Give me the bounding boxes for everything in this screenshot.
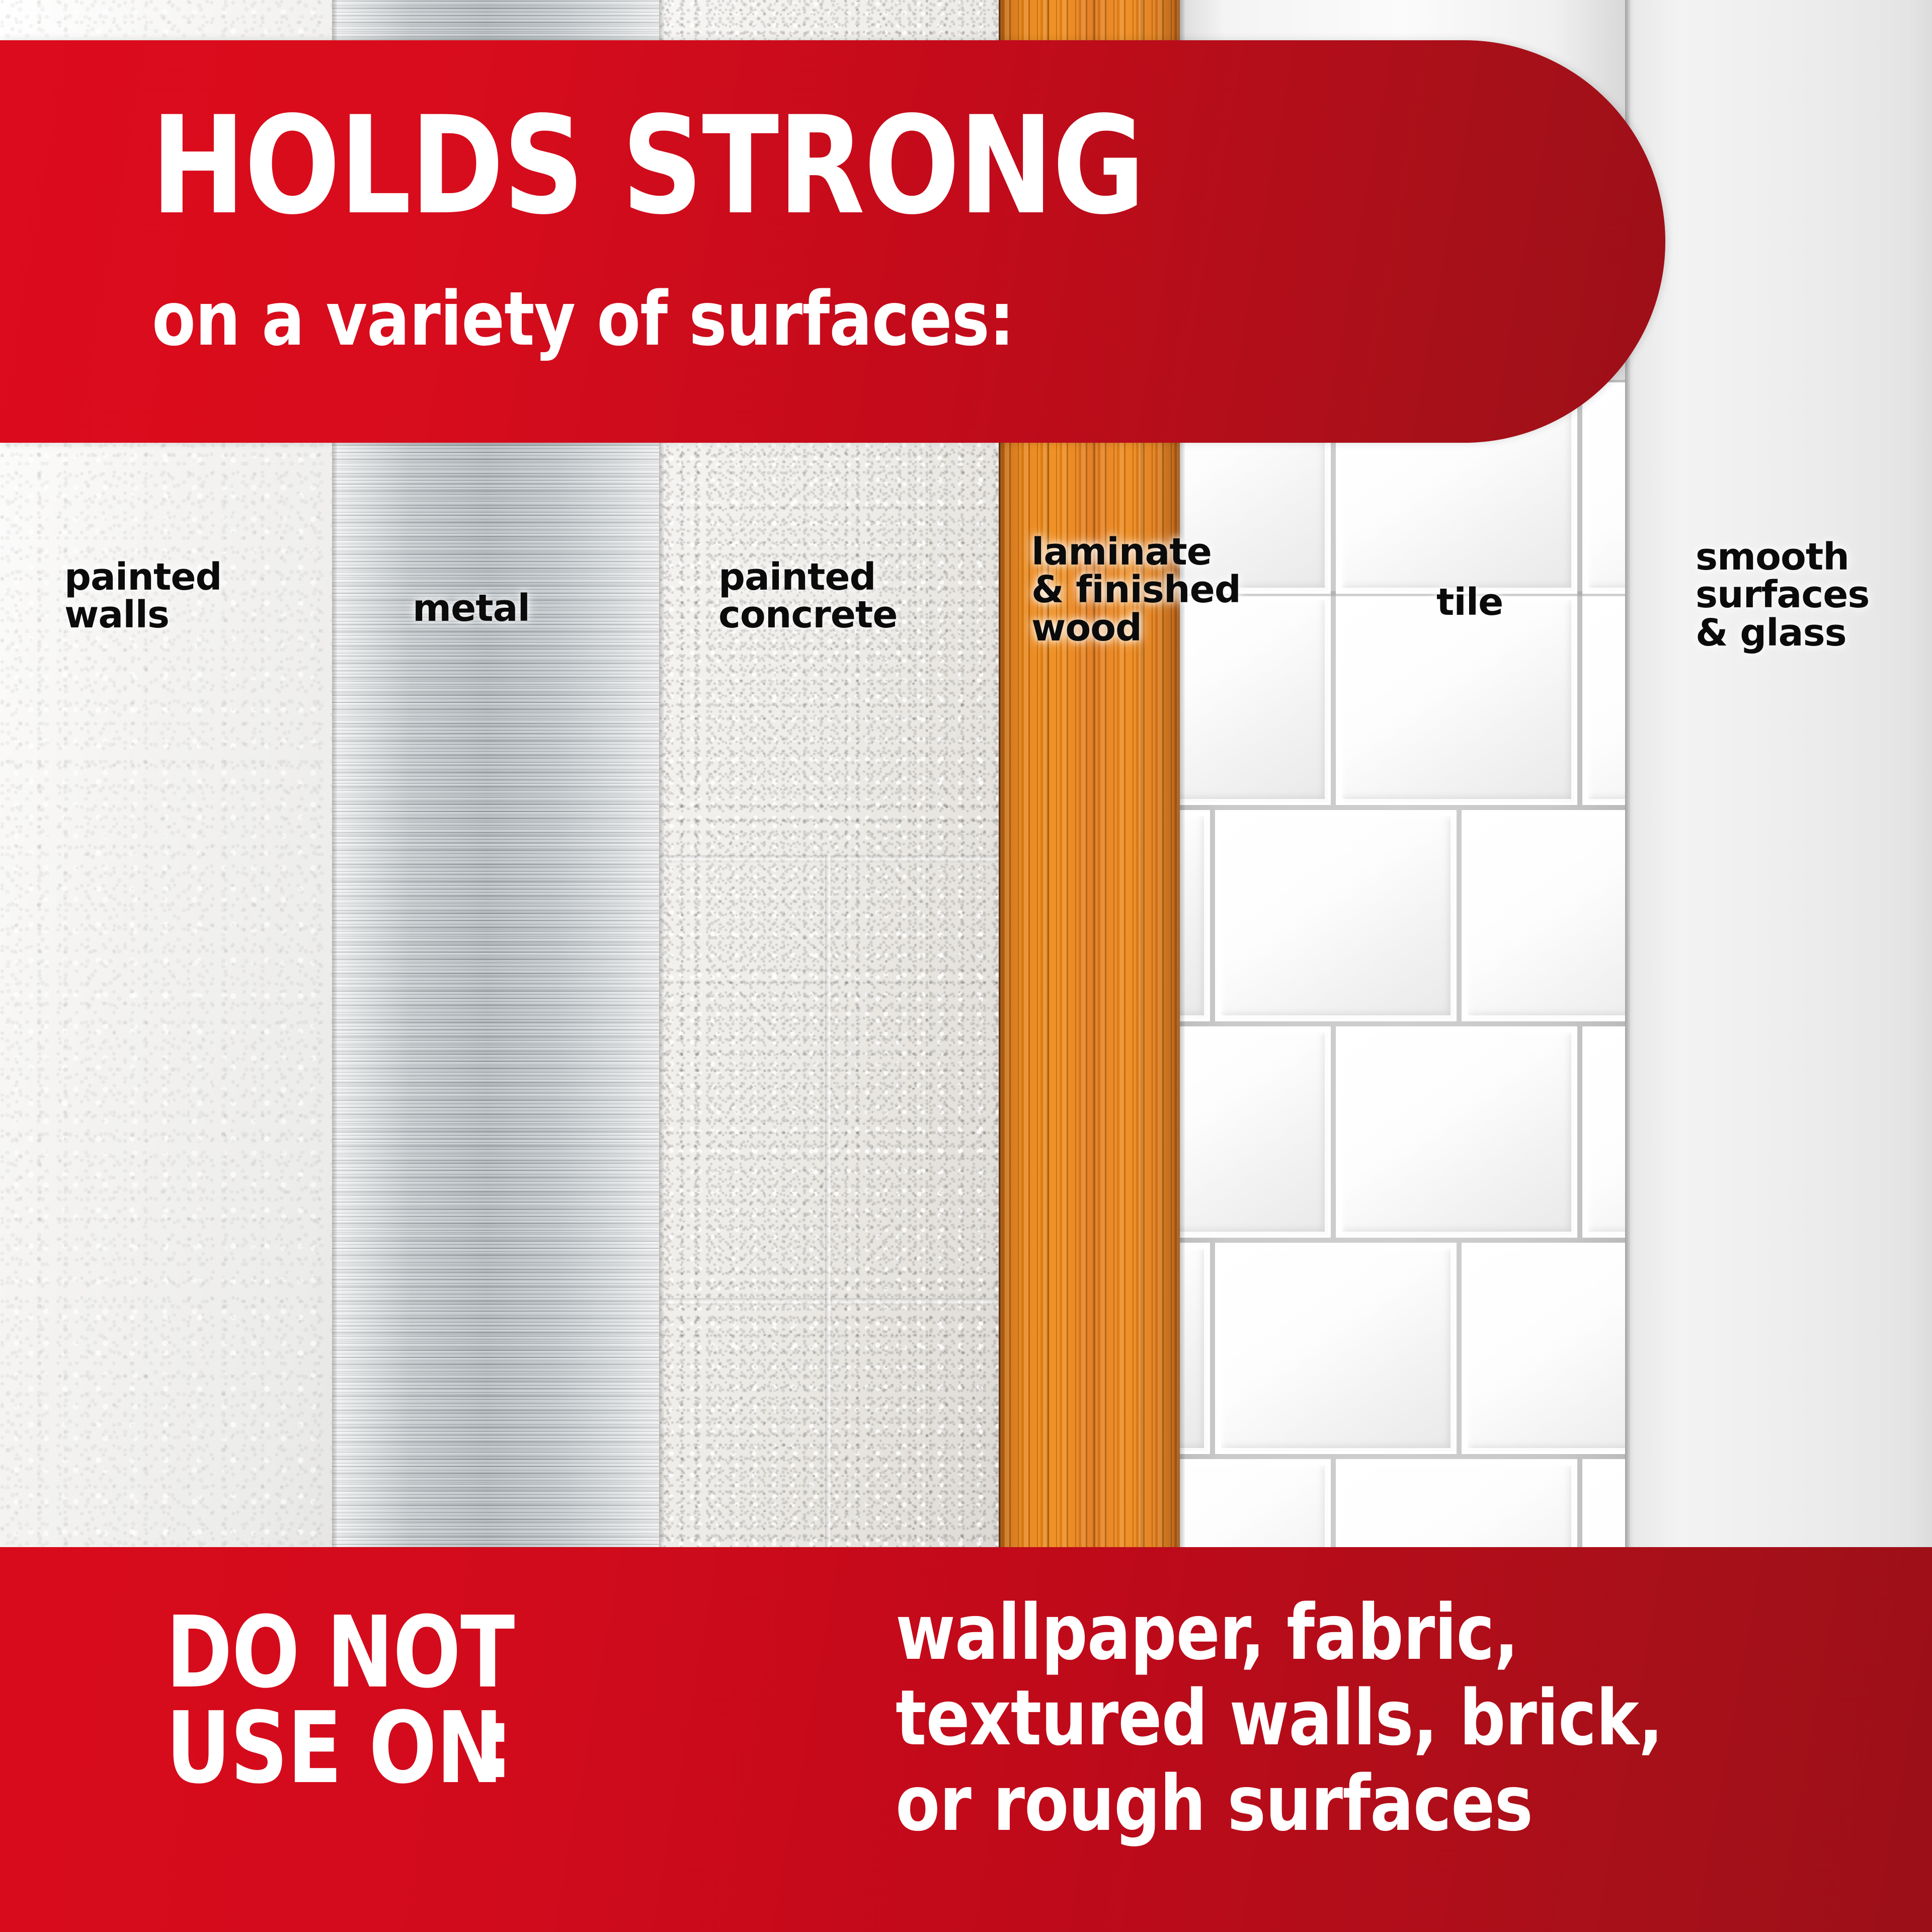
tile-piece <box>1582 382 1625 594</box>
subheadline-variety-of-surfaces: on a variety of surfaces: <box>152 282 1014 356</box>
do-not-use-heading-group: DO NOT USE ON : <box>166 1605 514 1796</box>
surface-label-laminate-wood: laminate & finished wood <box>1031 533 1241 647</box>
mortar-joint <box>825 855 832 1303</box>
tile-piece <box>1180 1026 1331 1238</box>
surface-label-smooth-glass: smooth surfaces & glass <box>1696 538 1869 652</box>
surface-label-tile: tile <box>1436 584 1503 621</box>
do-not-use-list: wallpaper, fabric, textured walls, brick… <box>896 1590 1663 1847</box>
surface-compatibility-infographic: HOLDS STRONG on a variety of surfaces: p… <box>0 0 1932 1932</box>
tile-piece <box>1215 1243 1457 1454</box>
tile-piece <box>1336 594 1577 805</box>
headline-holds-strong: HOLDS STRONG <box>151 99 1144 233</box>
surface-label-painted-walls: painted walls <box>64 558 222 634</box>
surface-label-painted-concrete: painted concrete <box>718 558 898 634</box>
tile-piece <box>1462 1243 1625 1454</box>
tile-piece <box>1582 594 1625 805</box>
do-not-use-heading: DO NOT USE ON <box>166 1605 514 1796</box>
tile-piece <box>1582 1026 1625 1238</box>
surface-label-metal: metal <box>413 590 530 627</box>
tile-piece <box>1462 810 1625 1021</box>
tile-piece <box>1336 1026 1577 1238</box>
tile-piece <box>1215 810 1457 1021</box>
